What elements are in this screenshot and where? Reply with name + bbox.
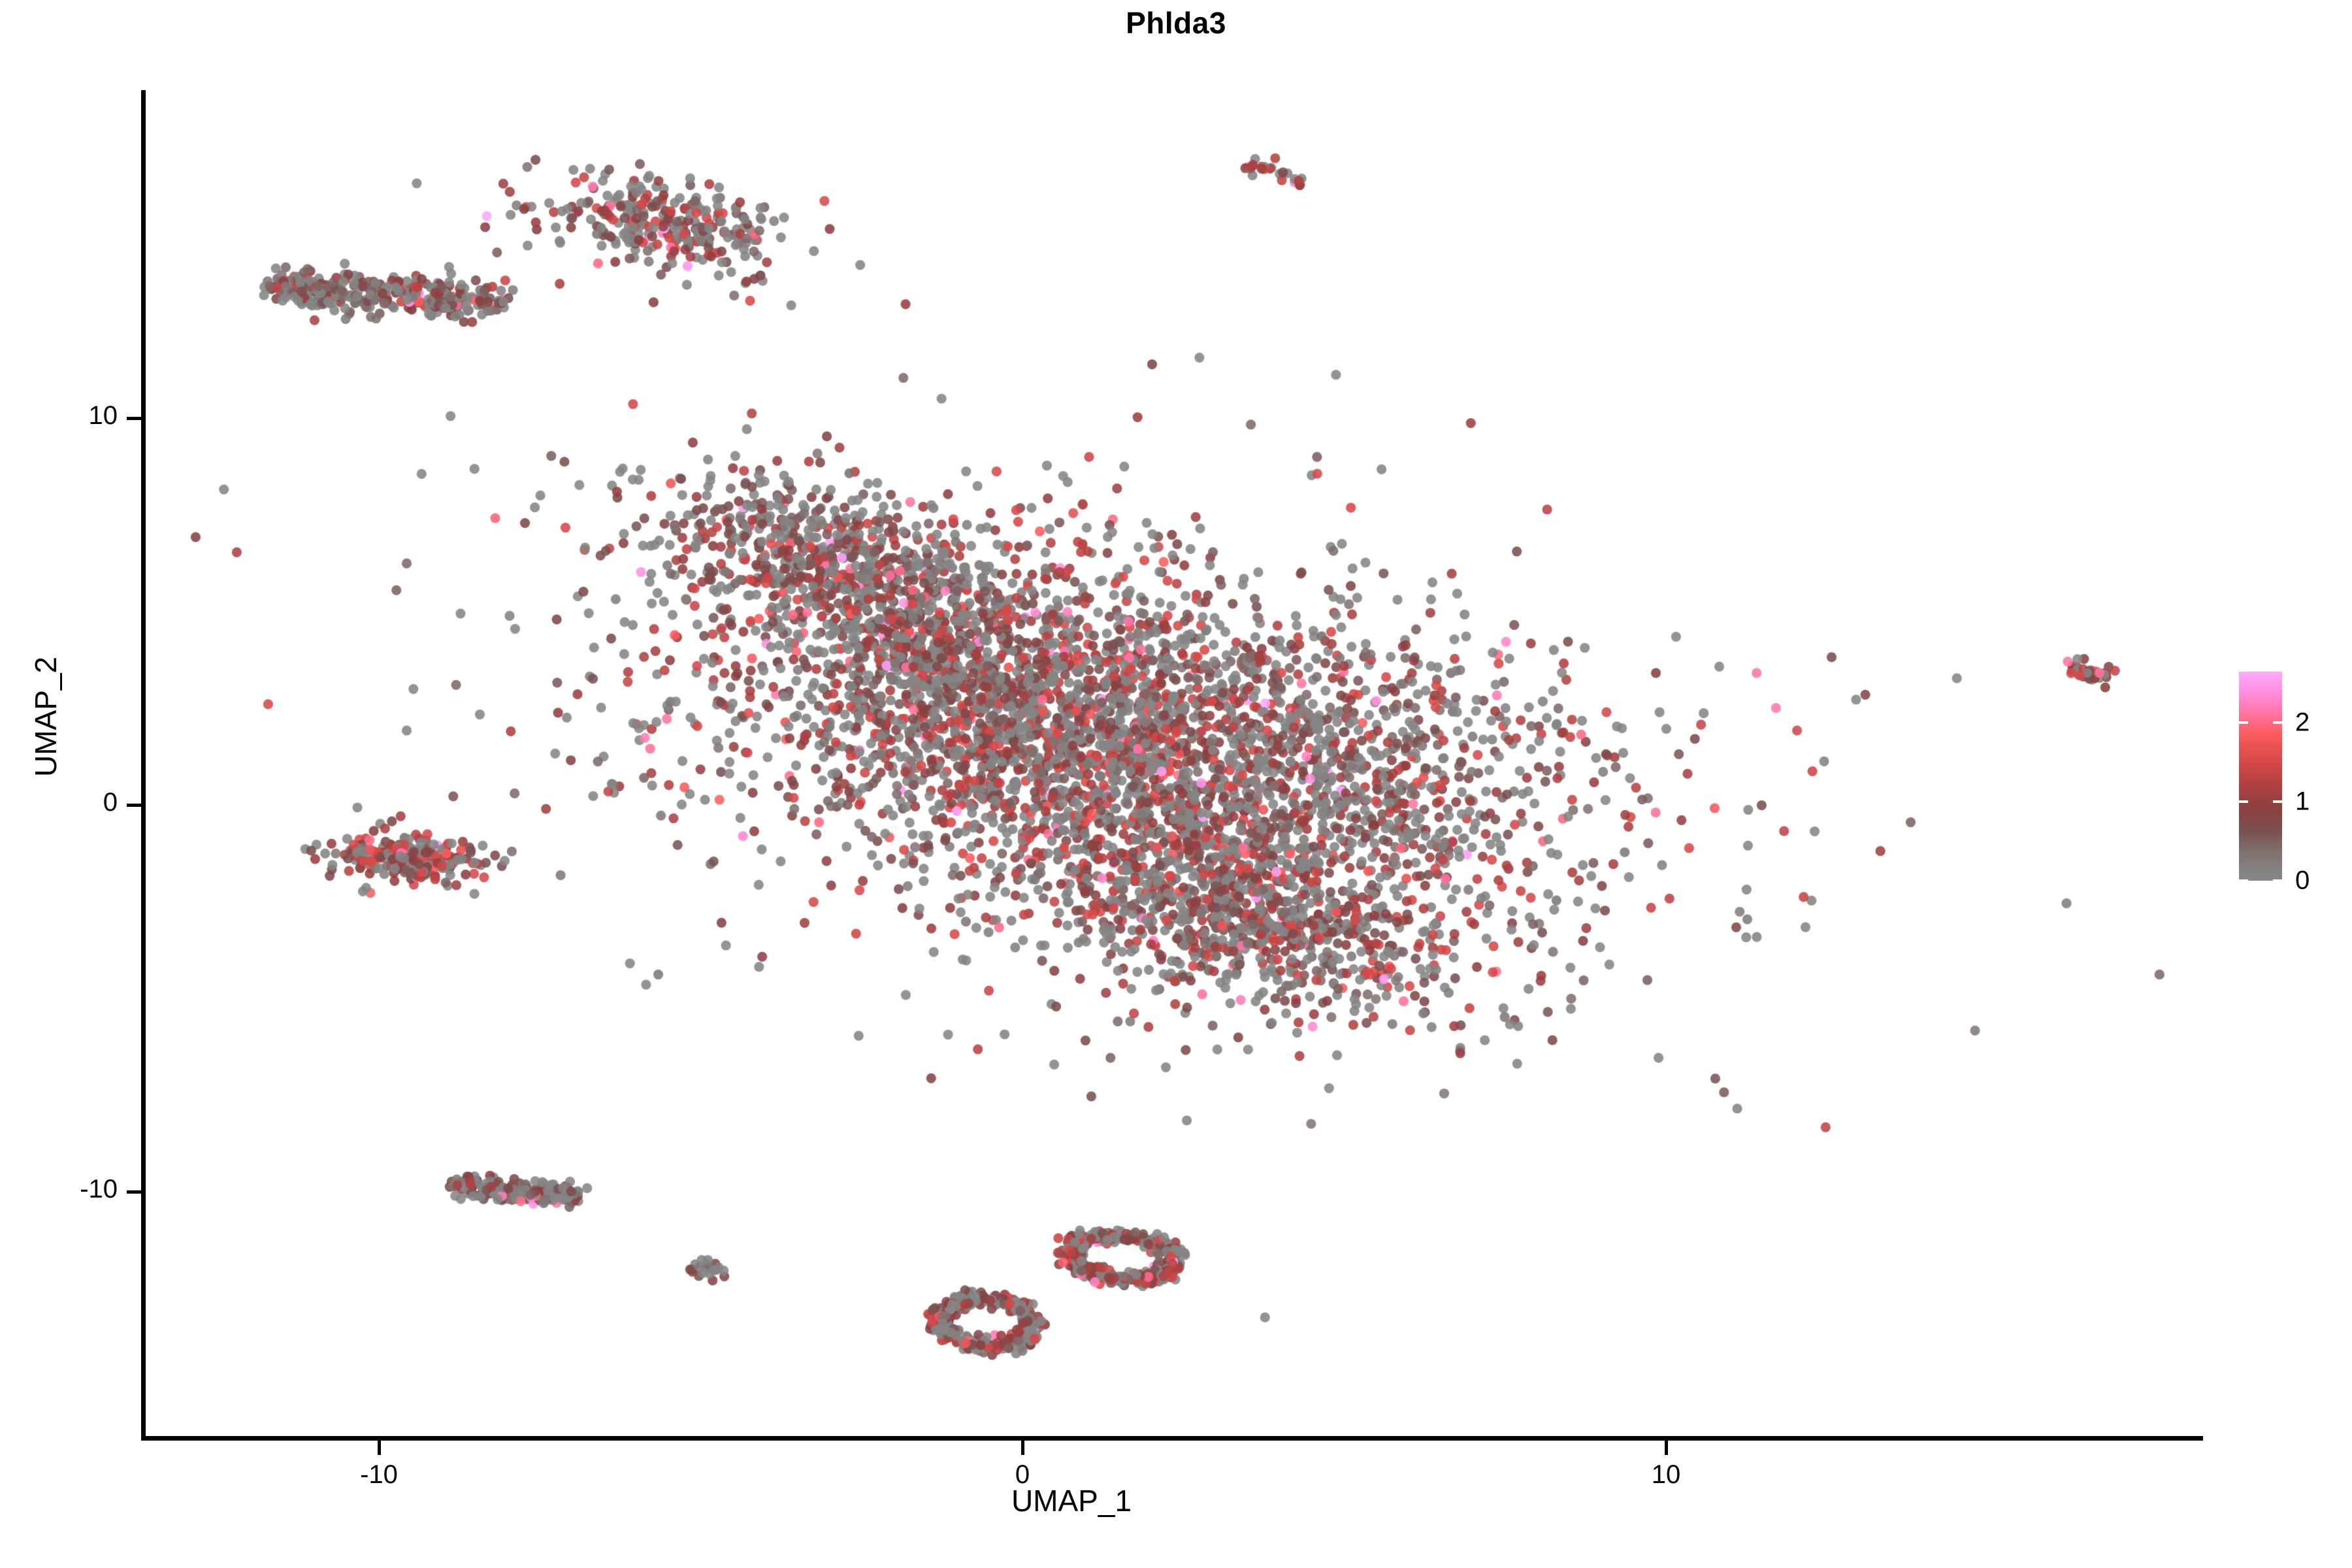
legend-tick-label: 0 [2295, 866, 2310, 896]
legend-tick-mark [2273, 800, 2282, 803]
legend-tick-mark [2273, 879, 2282, 882]
y-tick-label: 10 [0, 401, 118, 431]
y-tick-mark [127, 1190, 141, 1194]
x-tick-mark [1665, 1441, 1668, 1455]
page-title: Phlda3 [0, 5, 2352, 41]
legend-tick-mark [2239, 721, 2248, 724]
legend-tick-mark [2239, 800, 2248, 803]
legend-tick-label: 1 [2295, 787, 2310, 817]
x-tick-label: 10 [1588, 1460, 1744, 1490]
x-tick-mark [378, 1441, 381, 1455]
y-tick-mark [127, 804, 141, 807]
y-tick-label: -10 [0, 1175, 118, 1204]
y-axis-line [141, 90, 146, 1440]
y-tick-mark [127, 417, 141, 420]
legend-tick-mark [2239, 879, 2248, 882]
color-legend: 210 [2239, 672, 2337, 887]
legend-tick-label: 2 [2295, 708, 2310, 738]
x-axis-title: UMAP_1 [902, 1483, 1241, 1518]
plot-panel [145, 91, 2203, 1439]
x-axis-line [141, 1436, 2203, 1441]
legend-colorbar [2239, 672, 2282, 881]
y-axis-title: UMAP_2 [28, 586, 63, 847]
scatter-canvas [145, 91, 2203, 1439]
legend-tick-mark [2273, 721, 2282, 724]
umap-feature-plot: Phlda3 100-10 -10010 UMAP_1 UMAP_2 210 [0, 0, 2352, 1568]
x-tick-label: -10 [301, 1460, 457, 1490]
x-tick-mark [1021, 1441, 1024, 1455]
scatter-points-layer [145, 91, 2203, 1439]
